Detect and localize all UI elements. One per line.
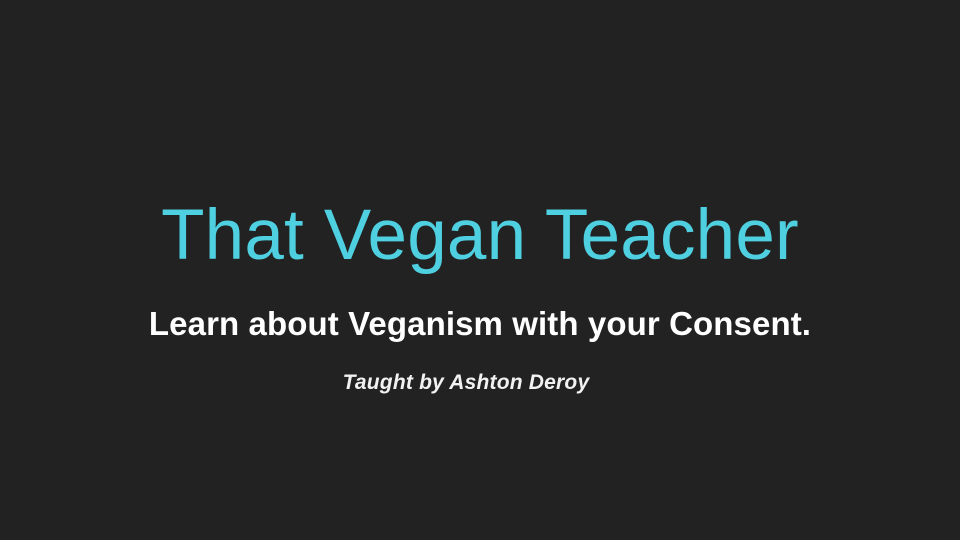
presentation-slide: That Vegan Teacher Learn about Veganism … [0, 0, 960, 540]
subtitle-placeholder: Learn about Veganism with your Consent. [0, 305, 960, 343]
slide-credit-byline: Taught by Ashton Deroy [0, 370, 932, 395]
title-placeholder: That Vegan Teacher [0, 200, 960, 271]
slide-title: That Vegan Teacher [0, 200, 960, 271]
credit-placeholder: Taught by Ashton Deroy [0, 370, 960, 395]
slide-subtitle: Learn about Veganism with your Consent. [0, 305, 960, 343]
